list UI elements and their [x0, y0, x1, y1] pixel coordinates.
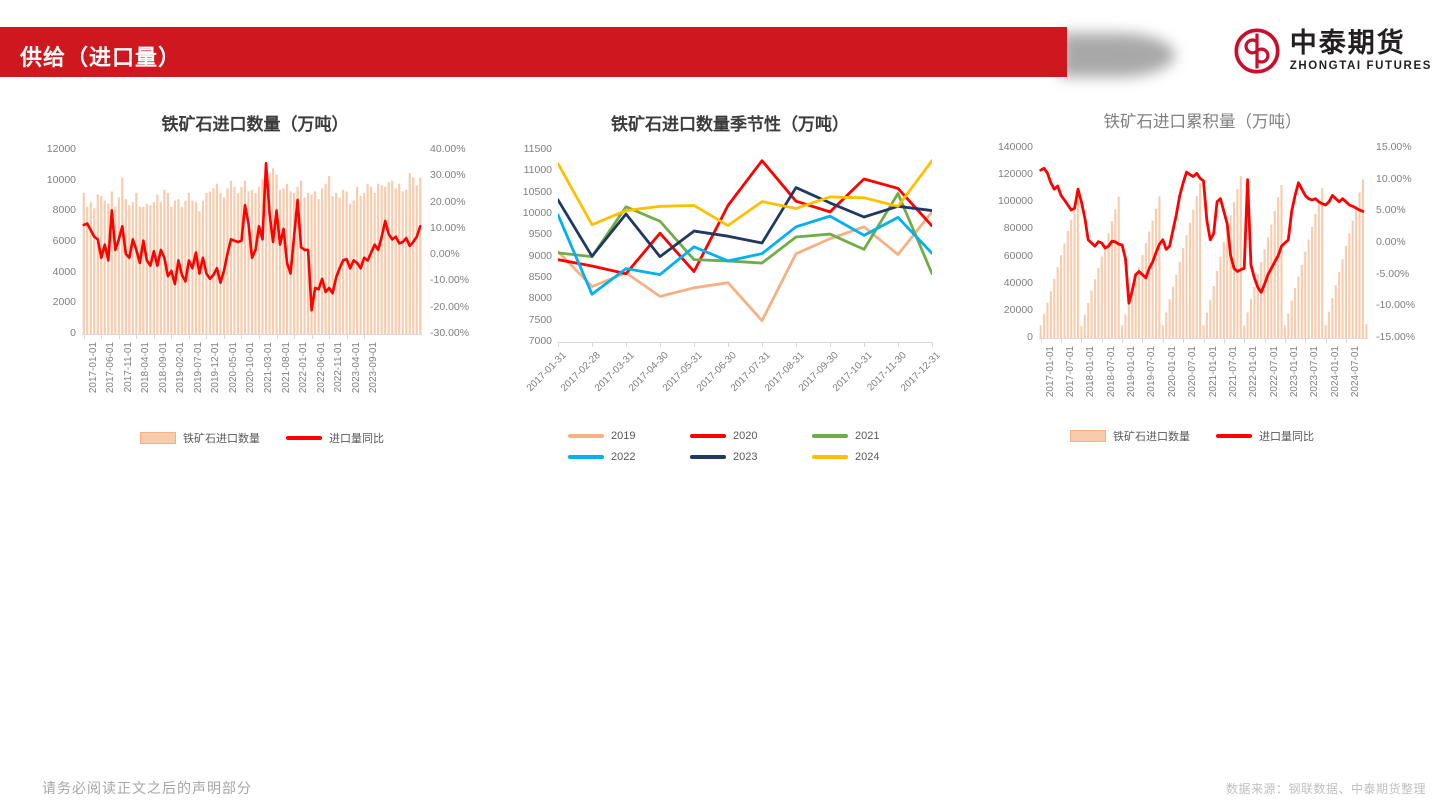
x-axis-tick [1265, 338, 1266, 343]
x-axis-tick [154, 334, 155, 339]
x-axis-tick-label: 2023-09-01 [368, 342, 379, 393]
x-axis-tick [592, 342, 593, 347]
x-axis-tick [224, 334, 225, 339]
logo-text-cn: 中泰期货 [1290, 30, 1432, 57]
legend-item[interactable]: 铁矿石进口数量 [140, 430, 260, 446]
x-axis-tick-label: 2017-06-01 [105, 342, 116, 393]
legend-item[interactable]: 进口量同比 [286, 430, 384, 446]
y2-axis-tick-label: 10.00% [430, 222, 466, 234]
x-axis-tick-label: 2018-09-01 [158, 342, 169, 393]
x-axis-tick-label: 2019-07-01 [1146, 346, 1157, 397]
plot-area [82, 150, 422, 334]
y2-axis-tick-label: 40.00% [430, 143, 466, 155]
x-axis-tick [1183, 338, 1184, 343]
x-axis-tick [796, 342, 797, 347]
legend-line-swatch [1216, 434, 1252, 438]
legend-item[interactable]: 2020 [690, 430, 796, 442]
y-axis-tick-label: 0 [70, 327, 76, 339]
legend-item[interactable]: 2024 [812, 451, 918, 463]
x-axis-tick [241, 334, 242, 339]
y-axis-tick-label: 0 [1027, 331, 1033, 343]
x-axis-tick [1041, 338, 1042, 343]
x-axis-tick-label: 2021-03-01 [263, 342, 274, 393]
y2-axis-tick-label: -5.00% [1376, 268, 1409, 280]
y2-axis-tick-label: 0.00% [1376, 236, 1406, 248]
y2-axis-tick-label: 15.00% [1376, 141, 1412, 153]
x-axis-tick-label: 2018-07-01 [1106, 346, 1117, 397]
x-axis-tick [694, 342, 695, 347]
legend-item[interactable]: 铁矿石进口数量 [1070, 428, 1190, 444]
chart-imports-monthly: 铁矿石进口数量（万吨） 020004000600080001000012000-… [20, 110, 490, 440]
legend-label: 2023 [733, 451, 757, 463]
y2-axis-tick-label: 0.00% [430, 248, 460, 260]
x-axis-tick [171, 334, 172, 339]
y-axis-tick-label: 11500 [524, 143, 552, 155]
y2-axis-tick-label: -10.00% [430, 274, 469, 286]
y-axis-tick-label: 10000 [47, 174, 76, 186]
legend-label: 2020 [733, 430, 757, 442]
legend-label: 铁矿石进口数量 [1113, 428, 1190, 444]
y-axis-tick-label: 80000 [1004, 222, 1033, 234]
chart-legend: 铁矿石进口数量进口量同比 [1070, 428, 1370, 444]
y2-axis-tick-label: 5.00% [1376, 204, 1406, 216]
x-axis-tick-label: 2024-07-01 [1350, 346, 1361, 397]
x-axis-tick [84, 334, 85, 339]
y-axis-tick-label: 120000 [998, 168, 1033, 180]
x-axis-tick [626, 342, 627, 347]
x-axis-tick [728, 342, 729, 347]
legend-line-swatch [286, 436, 322, 440]
x-axis-tick-label: 2024-01-01 [1330, 346, 1341, 397]
y-axis-tick-label: 10000 [523, 207, 552, 219]
x-axis-tick [1305, 338, 1306, 343]
legend-label: 2024 [855, 451, 879, 463]
legend-bar-swatch [140, 432, 176, 444]
y-axis-tick-label: 100000 [998, 195, 1033, 207]
y-axis-tick-label: 7500 [529, 314, 552, 326]
x-axis-tick [1204, 338, 1205, 343]
x-axis-tick-label: 2023-07-01 [1309, 346, 1320, 397]
y-axis-tick-label: 8000 [53, 204, 76, 216]
x-axis-tick-label: 2020-07-01 [1187, 346, 1198, 397]
x-axis-tick-label: 2020-10-01 [245, 342, 256, 393]
x-axis-tick-label: 2017-07-01 [1065, 346, 1076, 397]
legend-line-swatch [568, 434, 604, 438]
y2-axis-tick-label: 20.00% [430, 196, 466, 208]
x-axis-tick-label: 2022-11-01 [333, 342, 344, 392]
x-axis-tick-label: 2022-01-01 [1248, 346, 1259, 397]
x-axis-tick-label: 2017-01-01 [88, 342, 99, 393]
x-axis-tick [660, 342, 661, 347]
legend-label: 进口量同比 [329, 430, 384, 446]
x-axis-tick [1102, 338, 1103, 343]
x-axis-tick-label: 2021-07-01 [1228, 346, 1239, 397]
x-axis-tick [898, 342, 899, 347]
y2-axis-tick-label: -10.00% [1376, 299, 1415, 311]
y-axis-tick-label: 2000 [53, 296, 76, 308]
legend-label: 铁矿石进口数量 [183, 430, 260, 446]
y-axis-tick-label: 4000 [53, 266, 76, 278]
legend-item[interactable]: 进口量同比 [1216, 428, 1314, 444]
x-axis-tick [864, 342, 865, 347]
legend-line-swatch [812, 455, 848, 459]
y-axis-tick-label: 8000 [529, 292, 552, 304]
x-axis-tick [294, 334, 295, 339]
x-axis-tick [1346, 338, 1347, 343]
zhongtai-emblem-icon [1234, 28, 1280, 74]
y-axis-tick-label: 40000 [1004, 277, 1033, 289]
header-band-shadow [1060, 33, 1175, 77]
x-axis-tick [830, 342, 831, 347]
x-axis-tick-label: 2022-01-01 [298, 342, 309, 393]
y-axis-tick-label: 7000 [529, 335, 552, 347]
x-axis-tick [101, 334, 102, 339]
legend-label: 2021 [855, 430, 879, 442]
x-axis-tick-label: 2022-07-01 [1269, 346, 1280, 397]
x-axis-tick-label: 2019-12-01 [210, 342, 221, 393]
y-axis-tick-label: 9500 [529, 228, 552, 240]
x-axis-tick [558, 342, 559, 347]
x-axis-tick [206, 334, 207, 339]
x-axis-tick [1142, 338, 1143, 343]
x-axis-tick-label: 2017-01-01 [1045, 346, 1056, 397]
legend-label: 进口量同比 [1259, 428, 1314, 444]
y-axis-tick-label: 11000 [524, 164, 552, 176]
chart-legend: 201920202021202220232024 [568, 430, 928, 463]
x-axis-tick [762, 342, 763, 347]
x-axis-tick [347, 334, 348, 339]
y-axis-tick-label: 9000 [529, 250, 552, 262]
y-axis-tick-label: 12000 [47, 143, 76, 155]
legend-line-swatch [568, 455, 604, 459]
y2-axis-tick-label: 30.00% [430, 169, 466, 181]
x-axis-tick-label: 2021-01-01 [1208, 346, 1219, 397]
footer-disclaimer: 请务必阅读正文之后的声明部分 [42, 778, 252, 798]
plot-area [558, 150, 932, 342]
chart-title: 铁矿石进口数量季节性（万吨） [500, 110, 960, 135]
x-axis-tick [1224, 338, 1225, 343]
x-axis-tick-label: 2022-06-01 [316, 342, 327, 393]
x-axis-tick [1326, 338, 1327, 343]
x-axis-tick [312, 334, 313, 339]
x-axis-tick [259, 334, 260, 339]
x-axis-tick [189, 334, 190, 339]
legend-line-swatch [690, 434, 726, 438]
x-axis-line [82, 334, 422, 335]
legend-label: 2019 [611, 430, 635, 442]
x-axis-tick-label: 2023-01-01 [1289, 346, 1300, 397]
x-axis-tick [119, 334, 120, 339]
legend-item[interactable]: 2022 [568, 451, 674, 463]
chart-title: 铁矿石进口累积量（万吨） [965, 108, 1440, 132]
legend-label: 2022 [611, 451, 635, 463]
x-axis-tick-label: 2019-07-01 [193, 342, 204, 393]
x-axis-tick-label: 2021-08-01 [281, 342, 292, 393]
chart-imports-seasonal: 铁矿石进口数量季节性（万吨） 7000750080008500900095001… [500, 110, 960, 440]
legend-item[interactable]: 2019 [568, 430, 674, 442]
x-axis-tick [1081, 338, 1082, 343]
x-axis-tick [1163, 338, 1164, 343]
legend-item[interactable]: 2021 [812, 430, 918, 442]
x-axis-tick [277, 334, 278, 339]
y2-axis-tick-label: -15.00% [1376, 331, 1415, 343]
x-axis-tick [1122, 338, 1123, 343]
x-axis-tick [1285, 338, 1286, 343]
legend-line-swatch [690, 455, 726, 459]
y2-axis-tick-label: 10.00% [1376, 173, 1412, 185]
legend-line-swatch [812, 434, 848, 438]
x-axis-line [558, 342, 932, 343]
y-axis-tick-label: 6000 [53, 235, 76, 247]
x-axis-tick [932, 342, 933, 347]
x-axis-tick [1061, 338, 1062, 343]
y2-axis-tick-label: -30.00% [430, 327, 469, 339]
x-axis-tick [364, 334, 365, 339]
legend-bar-swatch [1070, 430, 1106, 442]
chart-imports-cumulative: 铁矿石进口累积量（万吨） 020000400006000080000100000… [965, 108, 1440, 438]
chart-title: 铁矿石进口数量（万吨） [20, 110, 490, 135]
plot-area [1039, 148, 1368, 338]
y-axis-tick-label: 140000 [998, 141, 1033, 153]
x-axis-tick-label: 2019-02-01 [175, 342, 186, 393]
x-axis-tick-label: 2018-04-01 [140, 342, 151, 393]
y-axis-tick-label: 60000 [1004, 250, 1033, 262]
brand-logo: 中泰期货 ZHONGTAI FUTURES [1234, 28, 1432, 74]
x-axis-tick [1244, 338, 1245, 343]
x-axis-tick-label: 2019-01-01 [1126, 346, 1137, 397]
x-axis-tick-label: 2023-04-01 [351, 342, 362, 393]
logo-text-en: ZHONGTAI FUTURES [1290, 61, 1432, 73]
x-axis-tick-label: 2020-01-01 [1167, 346, 1178, 397]
y2-axis-tick-label: -20.00% [430, 301, 469, 313]
chart-legend: 铁矿石进口数量进口量同比 [140, 430, 440, 446]
x-axis-tick-label: 2018-01-01 [1085, 346, 1096, 397]
y-axis-tick-label: 20000 [1004, 304, 1033, 316]
y-axis-tick-label: 8500 [529, 271, 552, 283]
x-axis-tick-label: 2017-11-01 [123, 342, 134, 392]
x-axis-tick-label: 2020-05-01 [228, 342, 239, 393]
page-title: 供给（进口量） [20, 40, 181, 72]
footer-source: 数据来源：钢联数据、中泰期货整理 [1226, 780, 1426, 797]
x-axis-tick [136, 334, 137, 339]
x-axis-tick [329, 334, 330, 339]
legend-item[interactable]: 2023 [690, 451, 796, 463]
y-axis-tick-label: 10500 [523, 186, 552, 198]
